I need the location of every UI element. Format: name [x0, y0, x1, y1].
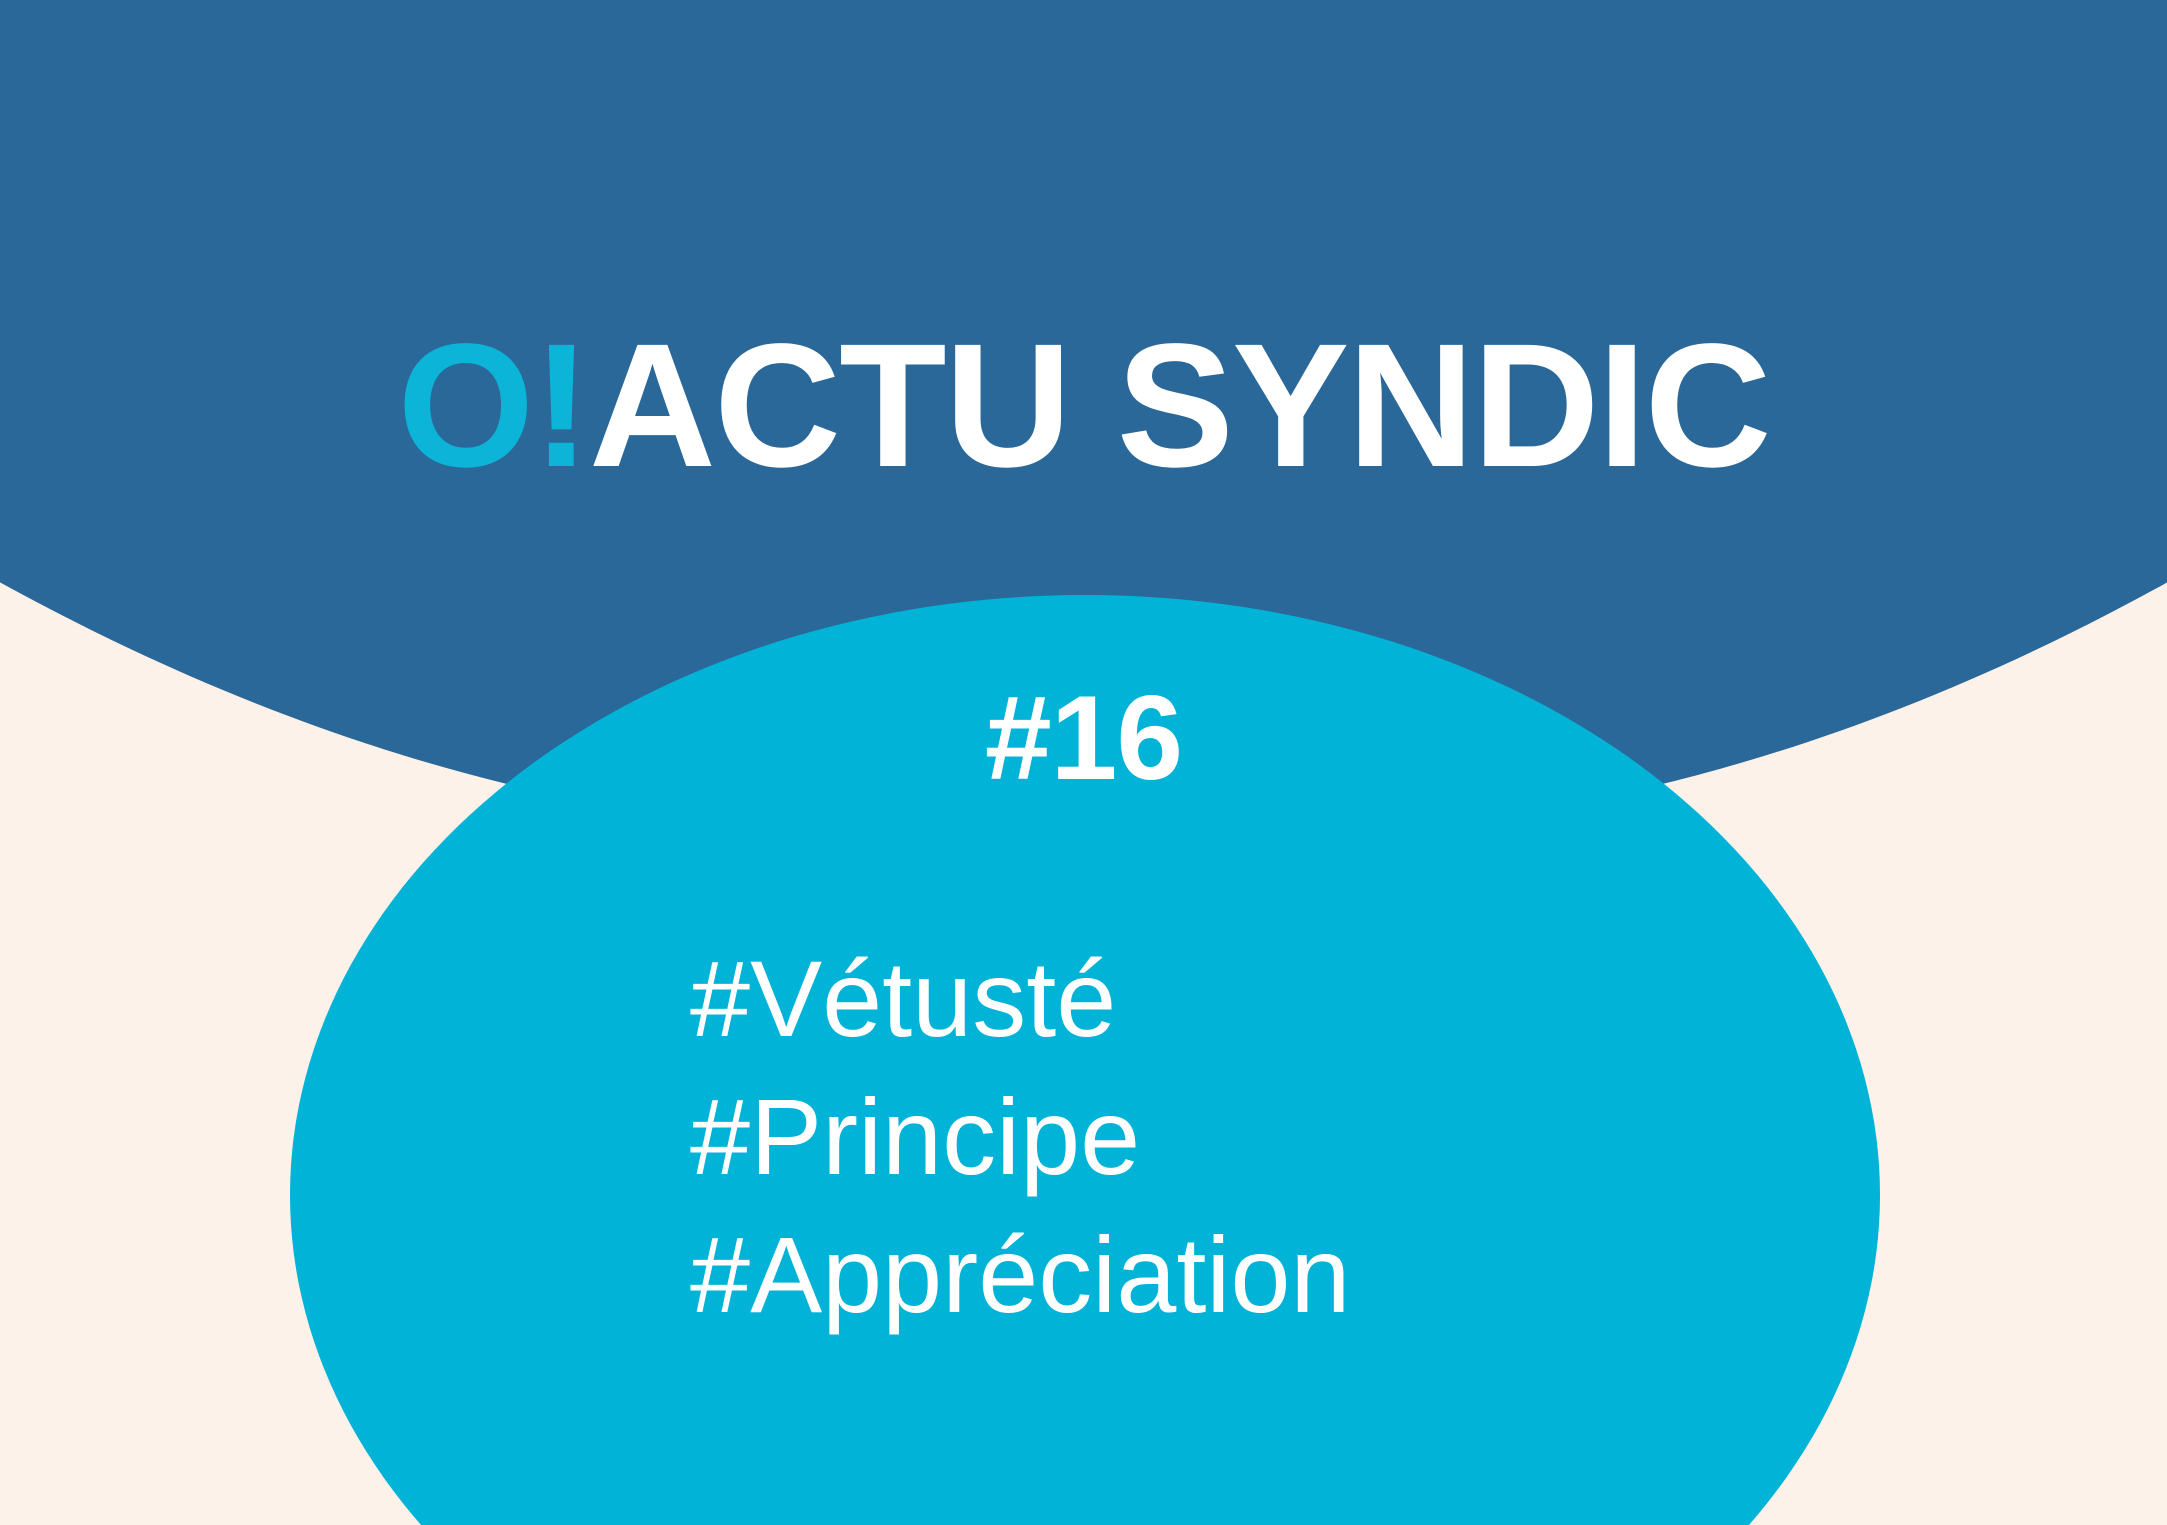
issue-number-label: #16 — [0, 672, 2167, 804]
poster-canvas: O!ACTU SYNDIC #16 #Vétusté #Principe #Ap… — [0, 0, 2167, 1525]
hashtag-item: #Principe — [690, 1068, 1690, 1206]
hashtag-list: #Vétusté #Principe #Appréciation — [690, 930, 1690, 1345]
hashtag-item: #Vétusté — [690, 930, 1690, 1068]
hashtag-item: #Appréciation — [690, 1206, 1690, 1344]
